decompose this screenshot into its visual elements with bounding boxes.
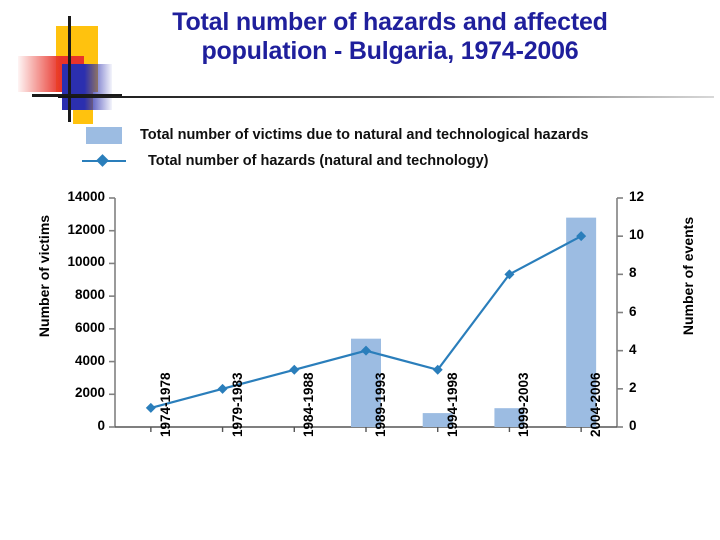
x-tick-label-1979-1983: 1979-1983 <box>230 372 245 437</box>
y-tick-label-right: 0 <box>629 418 637 433</box>
line-marker-1984-1988 <box>289 365 299 375</box>
x-tick-label-2004-2006: 2004-2006 <box>588 372 603 437</box>
x-tick-label-1999-2003: 1999-2003 <box>516 372 531 437</box>
x-tick-label-1994-1998: 1994-1998 <box>445 372 460 437</box>
y-tick-label-right: 8 <box>629 265 637 280</box>
y-tick-label-left: 8000 <box>43 287 105 302</box>
x-tick-label-1984-1988: 1984-1988 <box>301 372 316 437</box>
y-tick-label-right: 10 <box>629 227 644 242</box>
y-tick-label-right: 4 <box>629 342 637 357</box>
x-tick-label-1974-1978: 1974-1978 <box>158 372 173 437</box>
y-tick-label-left: 10000 <box>43 254 105 269</box>
y-tick-label-left: 2000 <box>43 385 105 400</box>
y-tick-label-left: 0 <box>43 418 105 433</box>
y-tick-label-left: 6000 <box>43 320 105 335</box>
y-tick-label-left: 12000 <box>43 222 105 237</box>
chart-svg <box>0 0 720 540</box>
line-marker-1974-1978 <box>146 403 156 413</box>
y-tick-label-right: 2 <box>629 380 637 395</box>
y-tick-label-right: 12 <box>629 189 644 204</box>
x-tick-label-1989-1993: 1989-1993 <box>373 372 388 437</box>
line-marker-1979-1983 <box>218 384 228 394</box>
y-tick-label-left: 14000 <box>43 189 105 204</box>
y-tick-label-right: 6 <box>629 304 637 319</box>
y-tick-label-left: 4000 <box>43 353 105 368</box>
chart-plot-area: Number of victims Number of events 02000… <box>0 0 720 540</box>
